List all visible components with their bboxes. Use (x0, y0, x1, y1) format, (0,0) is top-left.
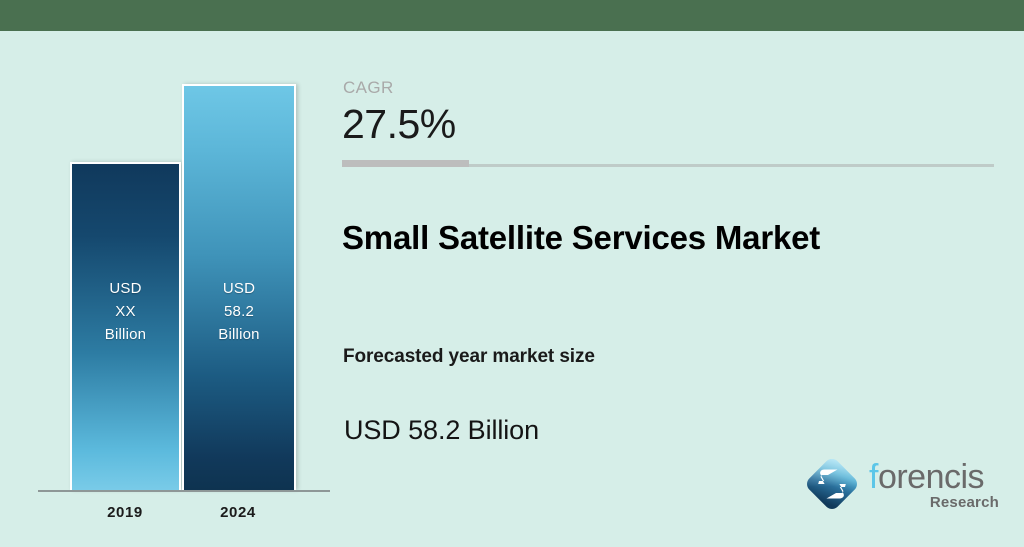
header-band (0, 0, 1024, 31)
bar-2019-label: USD XX Billion (72, 277, 179, 346)
divider-accent (342, 160, 469, 167)
logo-word-rest: orencis (878, 458, 984, 496)
forecast-value: USD 58.2 Billion (344, 415, 539, 446)
bar-2019-label-line1: USD (72, 277, 179, 300)
bar-2024-label-line2: 58.2 (184, 300, 294, 323)
content-panel: CAGR 27.5% Small Satellite Services Mark… (342, 31, 1002, 547)
x-axis-line (38, 490, 330, 492)
bar-2019: USD XX Billion (70, 162, 181, 490)
axis-tick-2024: 2024 (178, 504, 298, 521)
bar-chart: USD XX Billion USD 58.2 Billion 2019 202… (0, 31, 335, 547)
bar-2024: USD 58.2 Billion (182, 84, 296, 490)
infographic-page: USD XX Billion USD 58.2 Billion 2019 202… (0, 0, 1024, 547)
forecast-label: Forecasted year market size (343, 346, 595, 368)
page-title: Small Satellite Services Market (342, 219, 820, 257)
bar-2024-label-line3: Billion (184, 323, 294, 346)
logo-word-text: forencis (869, 458, 984, 496)
bar-2024-label-line1: USD (184, 277, 294, 300)
forencis-wordmark: forencis Research (869, 458, 1001, 514)
axis-tick-2019: 2019 (65, 504, 185, 521)
cagr-label: CAGR (343, 78, 394, 98)
bar-2019-label-line2: XX (72, 300, 179, 323)
logo-word-f: f (869, 458, 878, 496)
forencis-diamond-icon (801, 453, 863, 515)
cagr-value: 27.5% (342, 101, 456, 148)
bar-2024-label: USD 58.2 Billion (184, 277, 294, 346)
bar-2019-label-line3: Billion (72, 323, 179, 346)
forencis-logo: forencis Research (801, 448, 1001, 520)
logo-subtitle: Research (930, 494, 999, 511)
